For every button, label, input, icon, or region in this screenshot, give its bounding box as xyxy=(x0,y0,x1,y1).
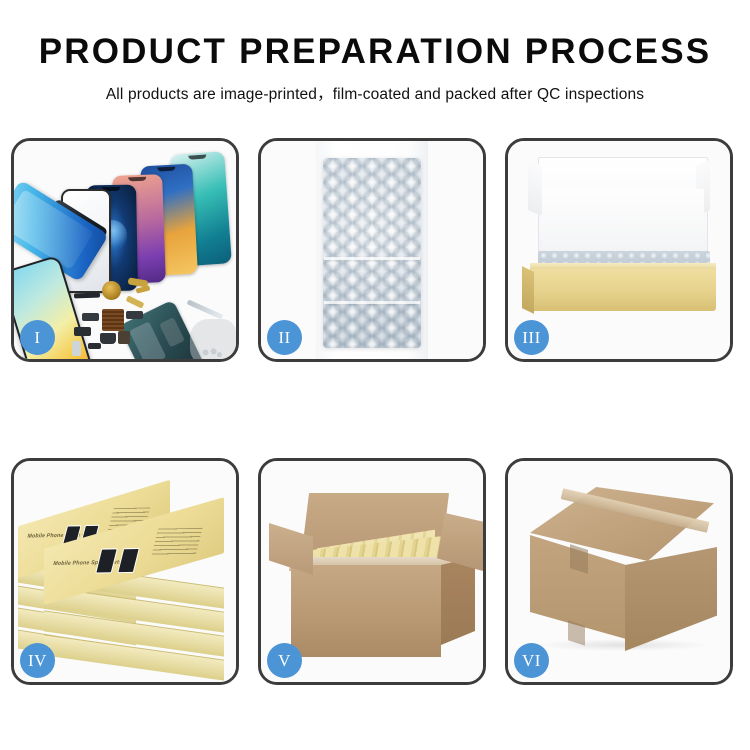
connector-part-2 xyxy=(126,311,143,319)
process-step-1: I xyxy=(11,138,239,362)
step-badge-5: V xyxy=(267,643,302,678)
page-header: PRODUCT PREPARATION PROCESS All products… xyxy=(0,0,750,104)
bubble-wrap-sheet xyxy=(323,158,421,348)
logic-board-chip-part xyxy=(102,309,124,331)
flex-cable-part-2 xyxy=(136,285,151,293)
carton-front-face xyxy=(291,565,441,657)
process-step-4: Mobile Phone Spare Parts Mobile Phone Sp… xyxy=(11,458,239,685)
process-step-6: VI xyxy=(505,458,733,685)
process-step-grid: I II III xyxy=(11,138,739,685)
box-screen-image-front-2 xyxy=(117,548,140,573)
step-badge-6: VI xyxy=(514,643,549,678)
process-step-2: II xyxy=(258,138,486,362)
connector-part-1 xyxy=(82,313,99,321)
carton-shadow xyxy=(538,639,708,651)
tweezers-tool xyxy=(187,299,224,319)
sim-tray-part xyxy=(72,341,81,356)
step-badge-1: I xyxy=(20,320,55,355)
page-title: PRODUCT PREPARATION PROCESS xyxy=(0,34,750,71)
step-badge-3: III xyxy=(514,320,549,355)
bubble-wrap-seam-2 xyxy=(324,301,420,304)
button-part xyxy=(88,343,101,349)
inner-box-front xyxy=(530,269,716,311)
flex-cable-part-3 xyxy=(126,295,145,308)
taptic-engine-part xyxy=(74,327,91,336)
box-screen-image-front-1 xyxy=(95,548,118,573)
camera-module-part xyxy=(118,331,130,344)
box-spec-text-front xyxy=(151,528,202,556)
process-step-5: V xyxy=(258,458,486,685)
wireless-charging-coil-part xyxy=(102,281,121,300)
carton-side-face xyxy=(441,557,475,645)
sealed-carton-side xyxy=(625,547,717,651)
speaker-mesh-part xyxy=(74,293,100,299)
step-badge-4: IV xyxy=(20,643,55,678)
page-subtitle: All products are image-printed，film-coat… xyxy=(0,82,750,104)
step-badge-2: II xyxy=(267,320,302,355)
earpiece-speaker-part xyxy=(100,333,116,344)
process-step-3: III xyxy=(505,138,733,362)
screws-part xyxy=(200,347,222,358)
inner-box-lid-flap-left xyxy=(528,160,542,216)
bubble-wrap-seam-1 xyxy=(324,257,420,260)
